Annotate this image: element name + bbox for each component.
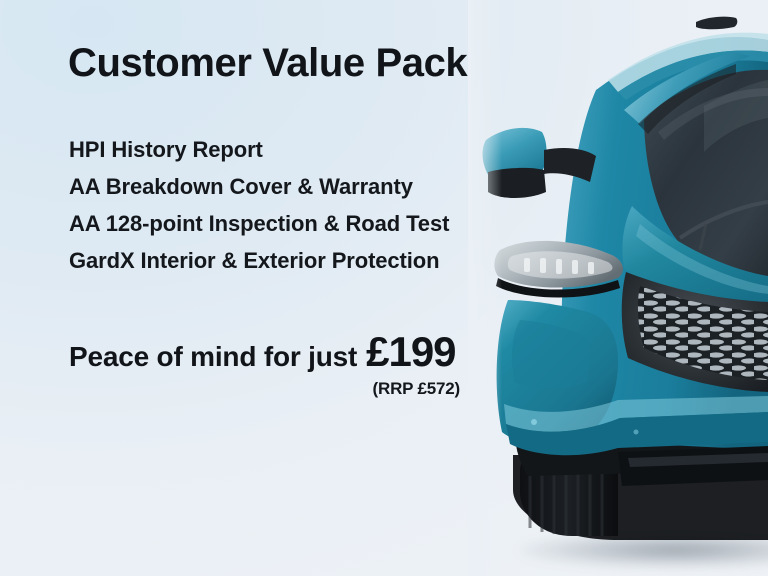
list-item: GardX Interior & Exterior Protection <box>69 242 449 279</box>
feature-list: HPI History Report AA Breakdown Cover & … <box>69 131 449 279</box>
list-item: AA 128-point Inspection & Road Test <box>69 205 449 242</box>
ad-copy: Customer Value Pack HPI History Report A… <box>68 0 538 576</box>
page-title: Customer Value Pack <box>68 41 467 86</box>
list-item: AA Breakdown Cover & Warranty <box>69 168 449 205</box>
price-lead-text: Peace of mind for just <box>69 341 357 373</box>
price-block: Peace of mind for just £199 (RRP £572) <box>69 328 489 399</box>
customer-value-pack-ad: Customer Value Pack HPI History Report A… <box>0 0 768 576</box>
rrp-text: (RRP £572) <box>69 379 489 399</box>
price-amount: £199 <box>366 328 455 376</box>
list-item: HPI History Report <box>69 131 449 168</box>
price-headline: Peace of mind for just £199 <box>69 328 489 376</box>
